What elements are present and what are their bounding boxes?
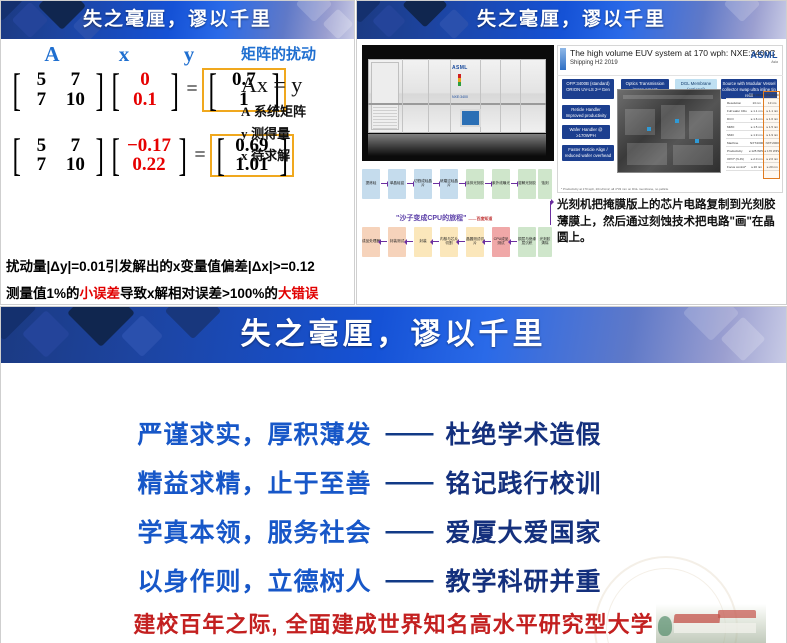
bracket-left-icon: [ [12,75,20,105]
motto-right: 铭记践行校训 [446,464,666,500]
equation-row-1: [ 57 710 ] [ 0 0.1 ] [9,68,239,112]
motto-right: 杜绝学术造假 [446,415,666,451]
asml-brand-sub: Asia [751,60,779,64]
banner-top-left: 失之毫厘，谬以千里 [1,1,354,39]
flow-arrow-icon [511,241,517,242]
perturbation-note-1: 扰动量|Δy|=0.01引发解出的x变量值偏差|Δx|>=0.12 [6,255,315,275]
note2-red-2: 大错误 [278,286,319,301]
matrix-cell: 7 [24,155,58,175]
machine-seam [402,59,403,133]
callout-reticle-handler: Reticle Handler Improved productivity [562,105,610,119]
flow-arrow-icon [407,241,413,242]
callout-ofp: OFP:3400B (standard) ORION UV-LS 2ⁿᵈ Gen [562,79,614,99]
bracket-left-icon: [ [111,140,119,170]
asml-subline: Shipping H2 2019 [570,60,618,66]
bracket-right-icon: ] [96,75,104,105]
building-roof [674,614,721,623]
flow-step: 切割成硅晶片 [414,169,432,199]
tree-shape [658,616,672,636]
motto-left: 严谨求实，厚积薄发 [122,415,372,451]
flow-arrow-icon [433,183,439,184]
motto-right: 爱厦大爱国家 [446,513,666,549]
spec-cell: SMO [726,133,749,137]
bracket-left-icon: [ [12,140,20,170]
machine-touchscreen [460,109,481,127]
vector-cell: 0 [123,70,167,90]
bracket-right-icon: ] [96,140,104,170]
bracket-left-icon: [ [111,75,119,105]
flow-arrow-icon [381,241,387,242]
equals-sign: = [194,144,205,167]
cpu-process-flowchart: 提炼硅 单晶硅锭 切割成硅晶片 研磨过硅晶片 涂抹光刻胶 紫外线曝光 溶解光刻胶… [362,167,552,267]
matrix-cell: 5 [24,136,58,156]
explainer-item: y 测得量 [241,123,353,142]
explainer-equation: Ax = y [241,72,353,98]
machine-seam [520,59,521,133]
callout-faster-reticle-align: Faster Reticle Align / reduced wafer ove… [562,145,614,161]
flow-step: 研磨过硅晶片 [440,169,458,199]
vector-x-1: [ 0 0.1 ] [108,70,183,110]
flow-arrow-icon [511,183,517,184]
asml-headline: The high volume EUV system at 170 wph: N… [570,48,776,58]
lithography-caption: 光刻机把掩膜版上的芯片电路复制到光刻胶薄膜上，然后通过刻蚀技术把电路"画"在晶圆… [557,197,783,247]
vector-cell: −0.17 [123,136,175,156]
matrix-cell: 7 [58,136,92,156]
asml-card-header: The high volume EUV system at 170 wph: N… [557,45,783,76]
machine-seam [428,59,429,133]
asml-footnote: * Productivity at 170 wph, 20mJ/cm2, all… [561,187,668,191]
vector-cells: 0 0.1 [123,70,167,110]
flow-step: 紫外线曝光 [492,169,510,199]
asml-brand-text: ASML [751,50,779,60]
building-roof [718,610,756,618]
motto-left: 学真本领，服务社会 [122,513,372,549]
building-wall [674,623,756,633]
equation-row-2: [ 57 710 ] [ −0.17 0.22 ] [9,134,239,178]
vector-cell: 0.22 [123,155,175,175]
flow-arrow-icon [459,183,465,184]
matrix-cell: 5 [24,70,58,90]
equals-sign: = [186,78,197,101]
campus-photo-watermark [656,604,766,643]
euv-internals-photo [617,89,721,173]
banner-title: 失之毫厘，谬以千里 [1,1,354,39]
machine-model-tag: NXE:3400 [452,95,468,99]
flow-step: 提炼硅 [362,169,380,199]
motto-row: 精益求精，止于至善 —— 铭记践行校训 [1,464,786,500]
spec-highlight-column [763,91,780,179]
variable-labels-row: A x y [9,43,239,67]
bracket-left-icon: [ [216,140,224,170]
banner-title: 失之毫厘，谬以千里 [1,307,786,363]
asml-info-card: The high volume EUV system at 170 wph: N… [557,45,783,193]
explainer-desc: 待求解 [248,148,291,163]
bracket-left-icon: [ [208,75,216,105]
explainer-item: A 系统矩阵 [241,101,353,120]
motto-dash: —— [386,468,432,497]
flowchart-caption: "沙子变成CPU的旅程" ——百度知道 [396,213,492,223]
matrix-a-1: [ 57 710 ] [9,70,108,110]
flow-step: 涂抹光刻胶 [466,169,484,199]
banner-title: 失之毫厘，谬以千里 [357,1,786,39]
machine-vent [373,107,397,129]
flow-arrow-icon [381,183,387,184]
slide-bottom-body: 严谨求实，厚积薄发 —— 杜绝学术造假 精益求精，止于至善 —— 铭记践行校训 … [1,363,786,643]
slide-top-right-body: ASML NXE:3400 The high volume EUV system… [357,39,786,305]
vector-cells: −0.17 0.22 [123,136,175,176]
machine-reflection [368,134,546,156]
spec-cell: Full wafer CDu [726,109,749,113]
perturbation-explainer: 矩阵的扰动 Ax = y A 系统矩阵 y 测得量 x 待求解 [241,43,353,164]
banner-bottom: 失之毫厘，谬以千里 [1,307,786,363]
explainer-item: x 待求解 [241,145,353,164]
matrix-cell: 7 [58,70,92,90]
flow-arrow-icon [407,183,413,184]
motto-row: 严谨求实，厚积薄发 —— 杜绝学术造假 [1,415,786,451]
spec-cell: Productivity [726,149,749,153]
flowchart-caption-text: "沙子变成CPU的旅程" [396,215,466,222]
flow-step: 蚀刻 [538,169,552,199]
spec-cell: MMO [726,125,749,129]
flow-step: 铜层与绝缘层沉积 [518,227,536,257]
explainer-desc: 系统矩阵 [250,104,306,119]
matrix-cell: 10 [58,90,92,110]
spec-cell: DCO [726,117,749,121]
banner-top-right: 失之毫厘，谬以千里 [357,1,786,39]
explainer-desc: 测得量 [248,126,291,141]
accent-bar [560,48,566,70]
motto-left: 精益求精，止于至善 [122,464,372,500]
spec-cell: Resolution [726,101,749,105]
note2-red-1: 小误差 [80,286,121,301]
flow-step: 光刻胶清除 [538,227,552,257]
bracket-right-icon: ] [170,75,178,105]
matrix-cell: 7 [24,90,58,110]
vector-cell: 0.1 [123,90,167,110]
note2-part-b: 导致x解相对误差>100%的 [120,286,278,301]
status-light-stack [458,74,461,86]
flow-step: 单晶硅锭 [388,169,406,199]
matrix-cells: 57 710 [24,70,92,110]
machine-seam [450,59,451,133]
label-matrix-a: A [9,42,95,67]
machine-body: ASML NXE:3400 [368,59,546,133]
flow-arrow-icon [485,241,491,242]
explainer-heading: 矩阵的扰动 [241,43,353,64]
matrix-cells: 57 710 [24,136,92,176]
math-block: A x y [ 57 710 ] [ [9,43,239,177]
asml-brand-logo: ASMLAsia [751,50,779,64]
spec-cell: OPO* (N-IN) [726,157,749,161]
machine-seam [500,59,501,133]
slide-top-left: 失之毫厘，谬以千里 A x y [ 57 710 [0,0,355,305]
motto-left: 以身作则，立德树人 [122,562,372,598]
flow-step: 溶解光刻胶 [518,169,536,199]
asml-machine-logo: ASML [452,65,468,71]
flow-arrow-icon [550,201,551,225]
matrix-a-2: [ 57 710 ] [9,136,108,176]
flow-arrow-icon [433,241,439,242]
matrix-cell: 10 [58,155,92,175]
motto-dash: —— [386,566,432,595]
spec-cell: Focus control* [726,165,749,169]
perturbation-note-2: 测量值1%的小误差导致x解相对误差>100%的大错误 [6,282,318,302]
motto-dash: —— [386,517,432,546]
spec-cell: Machine [726,141,749,145]
flow-arrow-icon [485,183,491,184]
slide-top-left-body: A x y [ 57 710 ] [ [1,39,354,305]
euv-machine-photo: ASML NXE:3400 [362,45,554,161]
motto-row: 学真本领，服务社会 —— 爱厦大爱国家 [1,513,786,549]
flow-arrow-icon [459,241,465,242]
bracket-right-icon: ] [178,140,186,170]
callout-wafer-handler: Wafer Handler @ ≥170WPH [562,125,610,139]
motto-dash: —— [386,419,432,448]
slide-bottom: 失之毫厘，谬以千里 严谨求实，厚积薄发 —— 杜绝学术造假 精益求精，止于至善 … [0,306,787,643]
slide-deck: 失之毫厘，谬以千里 A x y [ 57 710 [0,0,787,643]
note2-part-a: 测量值1%的 [6,286,80,301]
slide-top-right: 失之毫厘，谬以千里 ASML NXE:3400 [356,0,787,305]
vector-x-2: [ −0.17 0.22 ] [108,136,191,176]
flowchart-caption-source: ——百度知道 [468,216,492,221]
explainer-symbol: A [241,104,250,119]
